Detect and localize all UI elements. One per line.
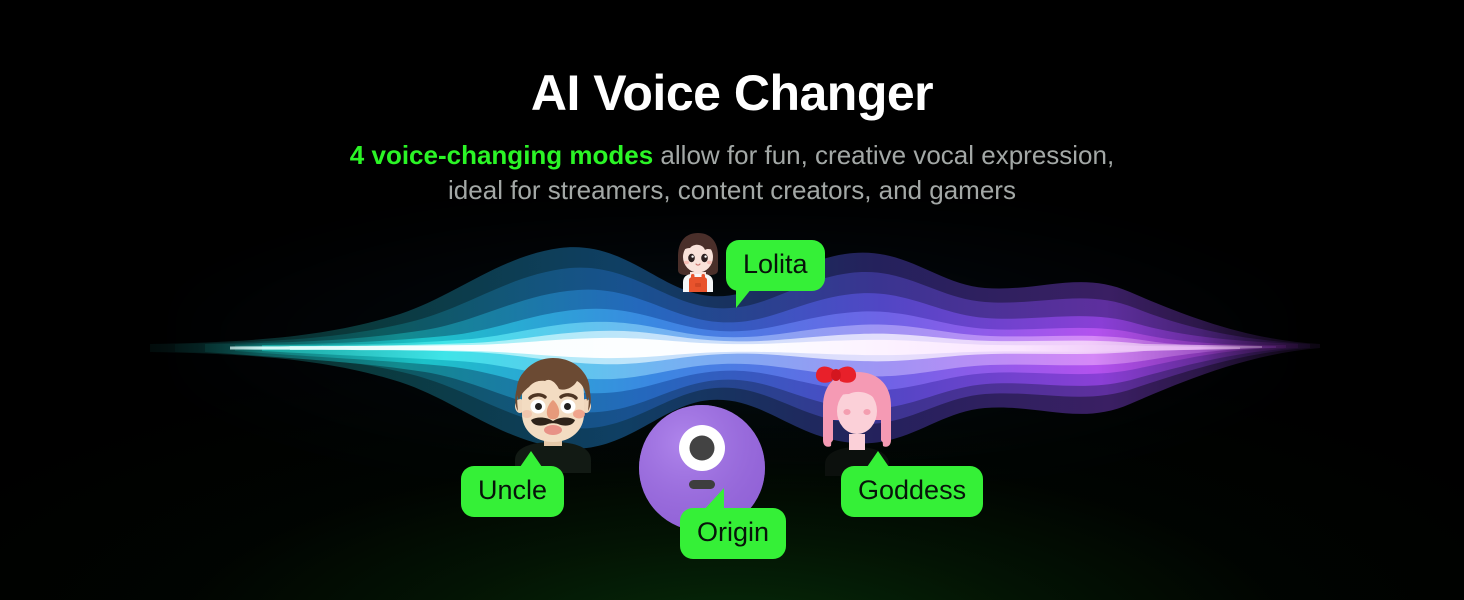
label-uncle-text: Uncle [478, 475, 547, 505]
label-origin[interactable]: Origin [680, 508, 786, 559]
label-goddess[interactable]: Goddess [841, 466, 983, 517]
bubble-tail-icon [702, 488, 724, 512]
page-title: AI Voice Changer [0, 0, 1464, 118]
label-lolita[interactable]: Lolita [726, 240, 825, 291]
label-uncle[interactable]: Uncle [461, 466, 564, 517]
subtitle-line-2: ideal for streamers, content creators, a… [448, 175, 1016, 205]
subtitle-rest: allow for fun, creative vocal expression… [653, 140, 1114, 170]
bubble-tail-icon [736, 288, 752, 308]
bubble-tail-icon [867, 451, 889, 467]
girl-avatar-icon [672, 230, 724, 292]
banner-header: AI Voice Changer 4 voice-changing modes … [0, 0, 1464, 207]
label-goddess-text: Goddess [858, 475, 966, 505]
avatar-uncle[interactable] [503, 348, 603, 473]
avatar-lolita[interactable] [672, 230, 724, 292]
girl-pink-avatar-icon [811, 356, 903, 476]
avatar-goddess[interactable] [811, 356, 903, 476]
banner-subtitle: 4 voice-changing modes allow for fun, cr… [262, 118, 1202, 207]
voice-changer-banner: AI Voice Changer 4 voice-changing modes … [0, 0, 1464, 600]
man-avatar-icon [503, 348, 603, 473]
label-lolita-text: Lolita [743, 249, 808, 279]
bubble-tail-icon [520, 451, 542, 467]
subtitle-highlight: 4 voice-changing modes [350, 140, 653, 170]
label-origin-text: Origin [697, 517, 769, 547]
